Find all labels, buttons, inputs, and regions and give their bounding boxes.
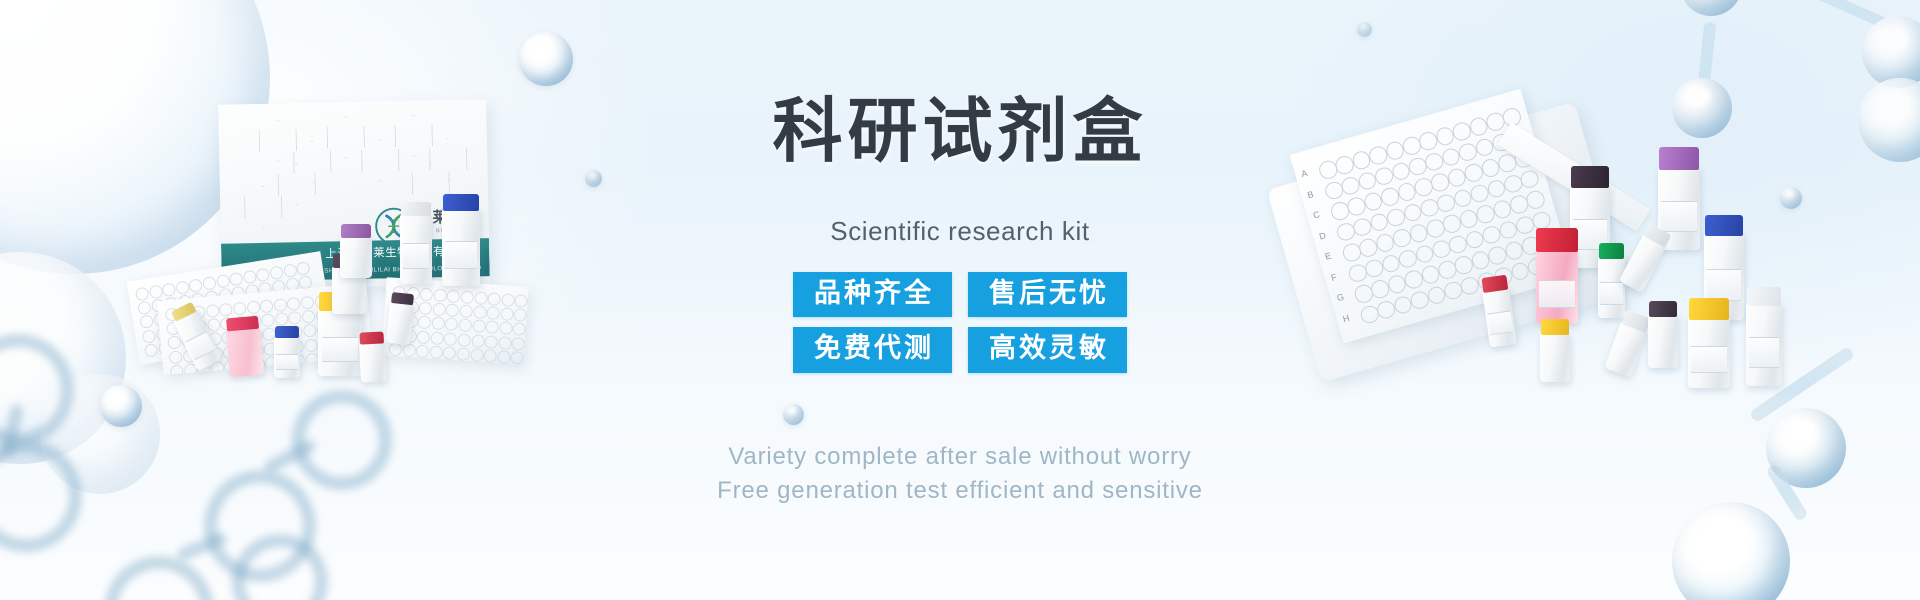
banner-subtitle: Scientific research kit: [0, 216, 1920, 247]
feature-badge-variety[interactable]: 品种齐全: [793, 272, 952, 317]
banner-content: 科研试剂盒 Scientific research kit 品种齐全 售后无忧 …: [0, 0, 1920, 600]
feature-badge-group: 品种齐全 售后无忧 免费代测 高效灵敏: [793, 272, 1127, 373]
promo-banner: 佰利莱生物 BAILILAI BIOLOGY 上海佰利莱生物科技有限公司 SHA…: [0, 0, 1920, 600]
tagline-line-1: Variety complete after sale without worr…: [0, 440, 1920, 474]
feature-badge-aftersale[interactable]: 售后无忧: [968, 272, 1127, 317]
feature-badge-freetest[interactable]: 免费代测: [793, 327, 952, 372]
feature-badge-sensitive[interactable]: 高效灵敏: [968, 327, 1127, 372]
banner-title: 科研试剂盒: [0, 96, 1920, 166]
tagline-line-2: Free generation test efficient and sensi…: [0, 474, 1920, 508]
banner-tagline: Variety complete after sale without worr…: [0, 440, 1920, 508]
